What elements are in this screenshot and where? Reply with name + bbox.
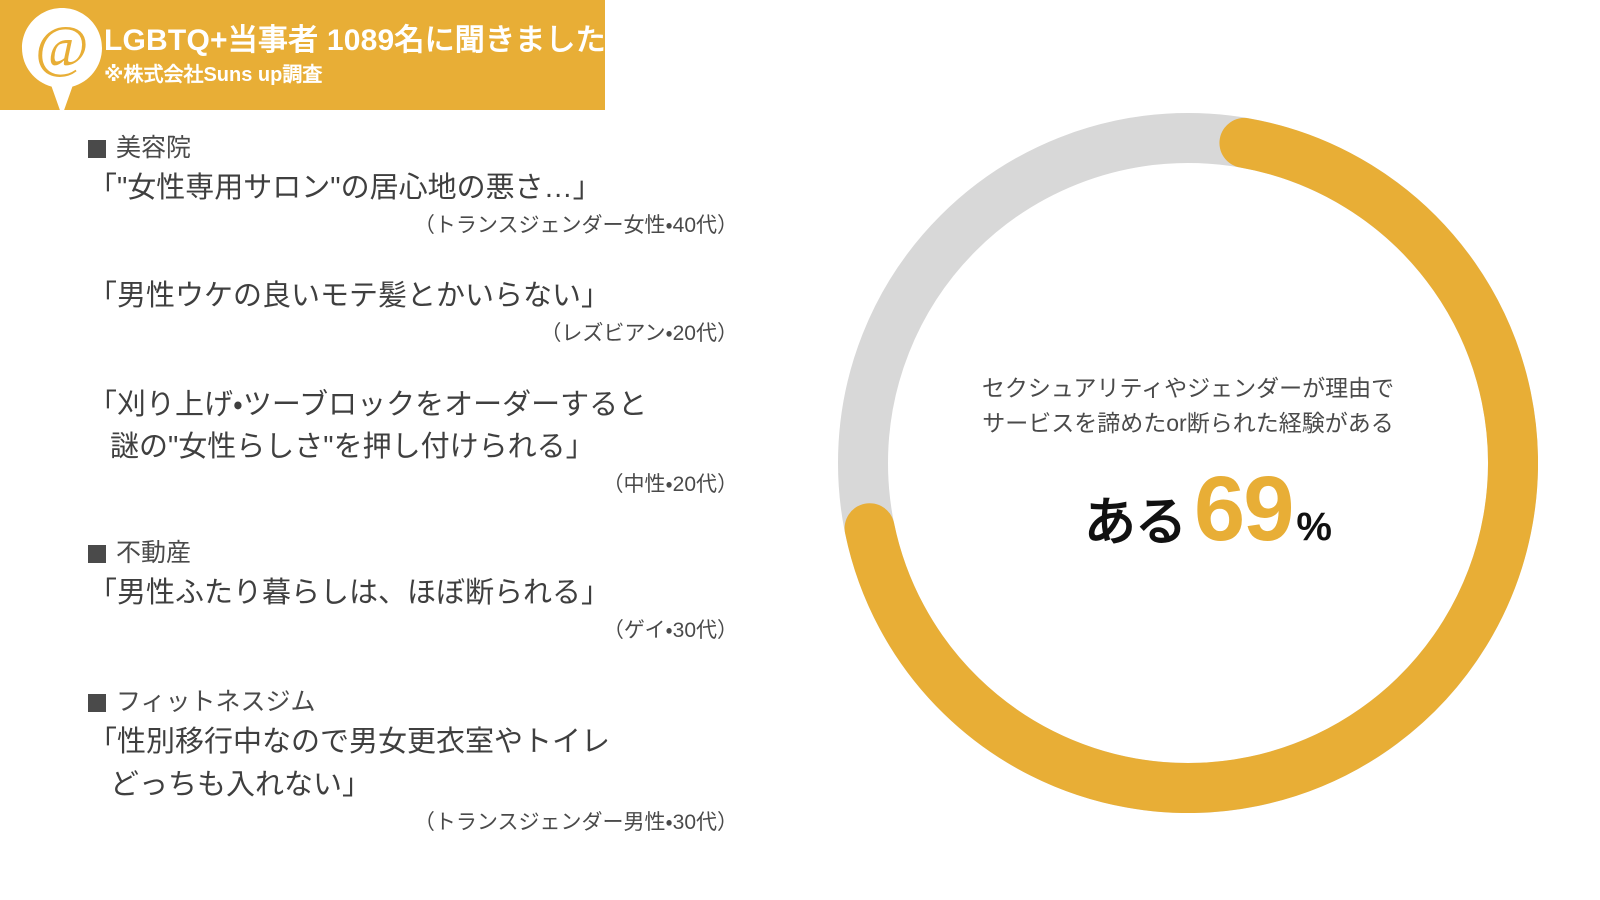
svg-text:@: @ [35,14,88,79]
donut-value-unit: % [1296,505,1332,550]
quote-item: 「男性ウケの良いモテ髪とかいらない」 （レズビアン・20代） [88,275,748,349]
square-bullet-icon [88,545,106,563]
quote-category: フィットネスジム [88,686,748,720]
quote-text-line: 「男性ウケの良いモテ髪とかいらない」 [88,275,748,318]
quote-text-line: どっちも入れない」 [88,764,748,807]
quote-text-line: 「男性ふたり暮らしは、ほぼ断られる」 [88,572,748,615]
quote-item: フィットネスジム 「性別移行中なので男女更衣室やトイレ どっちも入れない」 （ト… [88,686,748,838]
donut-value-label: ある [1084,480,1186,555]
donut-value-number: 69 [1194,466,1292,553]
quote-category: 不動産 [88,537,748,571]
at-sign-map-pin-icon: @ [18,6,106,118]
infographic-canvas: @ LGBTQ+当事者 1089名に聞きました ※株式会社Suns up調査 美… [0,0,1600,900]
donut-caption: セクシュアリティやジェンダーが理由で サービスを諦めたor断られた経験がある [982,371,1394,440]
square-bullet-icon [88,694,106,712]
quote-attribution: （トランスジェンダー男性・30代） [88,807,748,839]
donut-chart: セクシュアリティやジェンダーが理由で サービスを諦めたor断られた経験がある あ… [838,113,1538,813]
donut-caption-line: サービスを諦めたor断られた経験がある [982,406,1394,441]
page-title: LGBTQ+当事者 1089名に聞きました [104,24,606,59]
header-text-group: LGBTQ+当事者 1089名に聞きました ※株式会社Suns up調査 [104,24,606,87]
quote-attribution: （ゲイ・30代） [88,615,748,647]
quote-category-label: フィットネスジム [116,686,316,720]
quote-list: 美容院 「"女性専用サロン"の居心地の悪さ…」 （トランスジェンダー女性・40代… [88,132,748,838]
quote-attribution: （レズビアン・20代） [88,318,748,350]
quote-category-label: 不動産 [116,537,191,571]
quote-text-line: 「性別移行中なので男女更衣室やトイレ [88,721,748,764]
quote-category: 美容院 [88,132,748,166]
donut-center-content: セクシュアリティやジェンダーが理由で サービスを諦めたor断られた経験がある あ… [838,113,1538,813]
page-subtitle: ※株式会社Suns up調査 [104,63,606,87]
donut-caption-line: セクシュアリティやジェンダーが理由で [982,371,1394,406]
quote-item: 美容院 「"女性専用サロン"の居心地の悪さ…」 （トランスジェンダー女性・40代… [88,132,748,241]
quote-item: 不動産 「男性ふたり暮らしは、ほぼ断られる」 （ゲイ・30代） [88,537,748,646]
quote-text-line: 謎の"女性らしさ"を押し付けられる」 [88,426,748,469]
square-bullet-icon [88,140,106,158]
donut-value-row: ある 69 % [1044,466,1332,555]
quote-text-line: 「刈り上げ・ツーブロックをオーダーすると [88,384,748,427]
quote-attribution: （中性・20代） [88,469,748,501]
quote-text-line: 「"女性専用サロン"の居心地の悪さ…」 [88,167,748,210]
quote-category-label: 美容院 [116,132,191,166]
quote-attribution: （トランスジェンダー女性・40代） [88,210,748,242]
quote-item: 「刈り上げ・ツーブロックをオーダーすると 謎の"女性らしさ"を押し付けられる」 … [88,384,748,501]
